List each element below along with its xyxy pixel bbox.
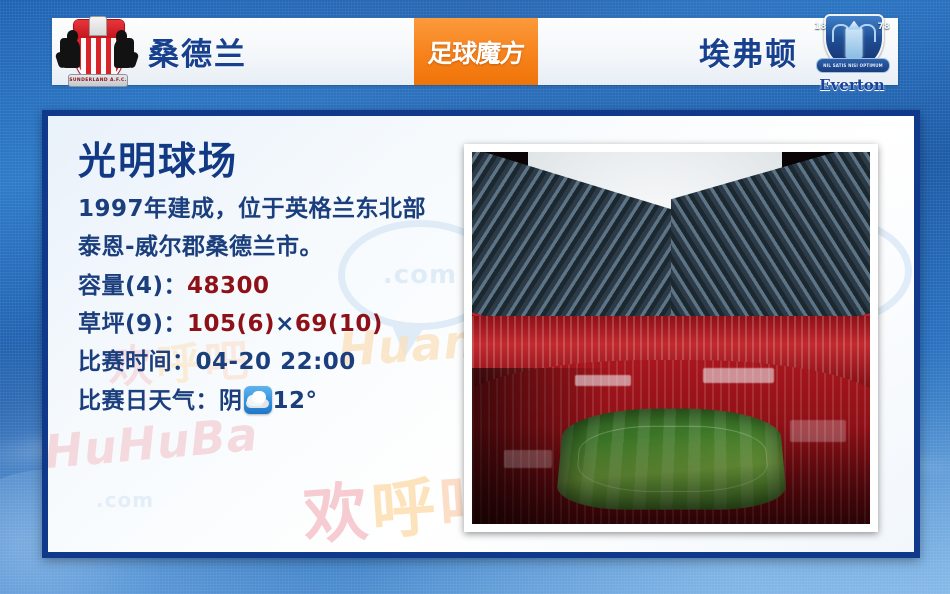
everton-crest-icon: 18 78 NIL SATIS NISI OPTIMUM Everton xyxy=(812,10,892,94)
crest-wordmark: Everton xyxy=(812,76,892,94)
away-team-name: 埃弗顿 xyxy=(699,29,798,74)
weather-condition: 阴 xyxy=(219,388,243,414)
cloudy-weather-icon xyxy=(244,386,272,414)
crest-ribbon-text: SUNDERLAND A.F.C. xyxy=(68,74,128,87)
pitch-length-value: 105(6) xyxy=(187,311,275,337)
pitch-label: 草坪(9)： xyxy=(78,311,187,337)
weather-row: 比赛日天气：阴12° xyxy=(78,386,498,416)
pitch-separator: × xyxy=(275,311,295,337)
weather-temperature: 12° xyxy=(273,388,318,414)
photo-crowd-patch xyxy=(703,368,775,383)
crest-motto-text: NIL SATIS NISI OPTIMUM xyxy=(816,58,890,73)
match-time-row: 比赛时间：04-20 22:00 xyxy=(78,347,498,377)
stadium-info-card: .com .com HuHuBa HuanBa HuHuBa .com 欢呼吧 … xyxy=(42,110,920,558)
capacity-value: 48300 xyxy=(187,273,270,299)
watermark-char-2: 呼 xyxy=(369,471,442,550)
crest-lion-left-shape xyxy=(60,38,80,68)
match-header-bar: SUNDERLAND A.F.C. 桑德兰 足球魔方 埃弗顿 18 78 NIL… xyxy=(52,18,898,85)
photo-crowd-patch xyxy=(575,375,631,386)
capacity-row: 容量(4)：48300 xyxy=(78,271,498,301)
watermark-char-1: 欢 xyxy=(301,475,374,554)
crest-tower-shape xyxy=(89,16,107,36)
photo-crowd-patch xyxy=(504,450,552,469)
sunderland-crest-icon: SUNDERLAND A.F.C. xyxy=(60,16,134,88)
stadium-title: 光明球场 xyxy=(78,142,498,180)
stadium-photo-frame[interactable] xyxy=(464,144,878,532)
capacity-label: 容量(4)： xyxy=(78,273,187,299)
crest-lion-right-shape xyxy=(114,38,134,68)
watermark-small-dotcom: .com xyxy=(96,488,154,512)
photo-crowd-patch xyxy=(790,420,846,442)
crest-year-right: 78 xyxy=(877,22,890,32)
stadium-photo xyxy=(472,152,870,524)
crest-year-left: 18 xyxy=(814,22,827,32)
crest-tower-shape xyxy=(846,28,863,58)
pitch-size-row: 草坪(9)：105(6)×69(10) xyxy=(78,309,498,339)
watermark-latin-text: HuHuBa xyxy=(42,407,260,479)
site-brand-logo[interactable]: 足球魔方 xyxy=(414,18,538,85)
stadium-description-line-2: 泰恩-威尔郡桑德兰市。 xyxy=(78,232,498,262)
match-time-label: 比赛时间： xyxy=(78,349,196,375)
stadium-info-text: 光明球场 1997年建成，位于英格兰东北部 泰恩-威尔郡桑德兰市。 容量(4)：… xyxy=(78,142,498,416)
weather-label: 比赛日天气： xyxy=(78,388,219,414)
site-brand-label: 足球魔方 xyxy=(427,34,526,70)
match-time-value: 04-20 22:00 xyxy=(196,349,356,375)
home-team-name: 桑德兰 xyxy=(148,29,247,74)
match-info-screen: SUNDERLAND A.F.C. 桑德兰 足球魔方 埃弗顿 18 78 NIL… xyxy=(0,0,950,594)
home-team[interactable]: SUNDERLAND A.F.C. 桑德兰 xyxy=(52,16,414,88)
pitch-width-value: 69(10) xyxy=(295,311,383,337)
stadium-description-line-1: 1997年建成，位于英格兰东北部 xyxy=(78,194,498,224)
away-team[interactable]: 埃弗顿 18 78 NIL SATIS NISI OPTIMUM Everton xyxy=(538,10,898,94)
